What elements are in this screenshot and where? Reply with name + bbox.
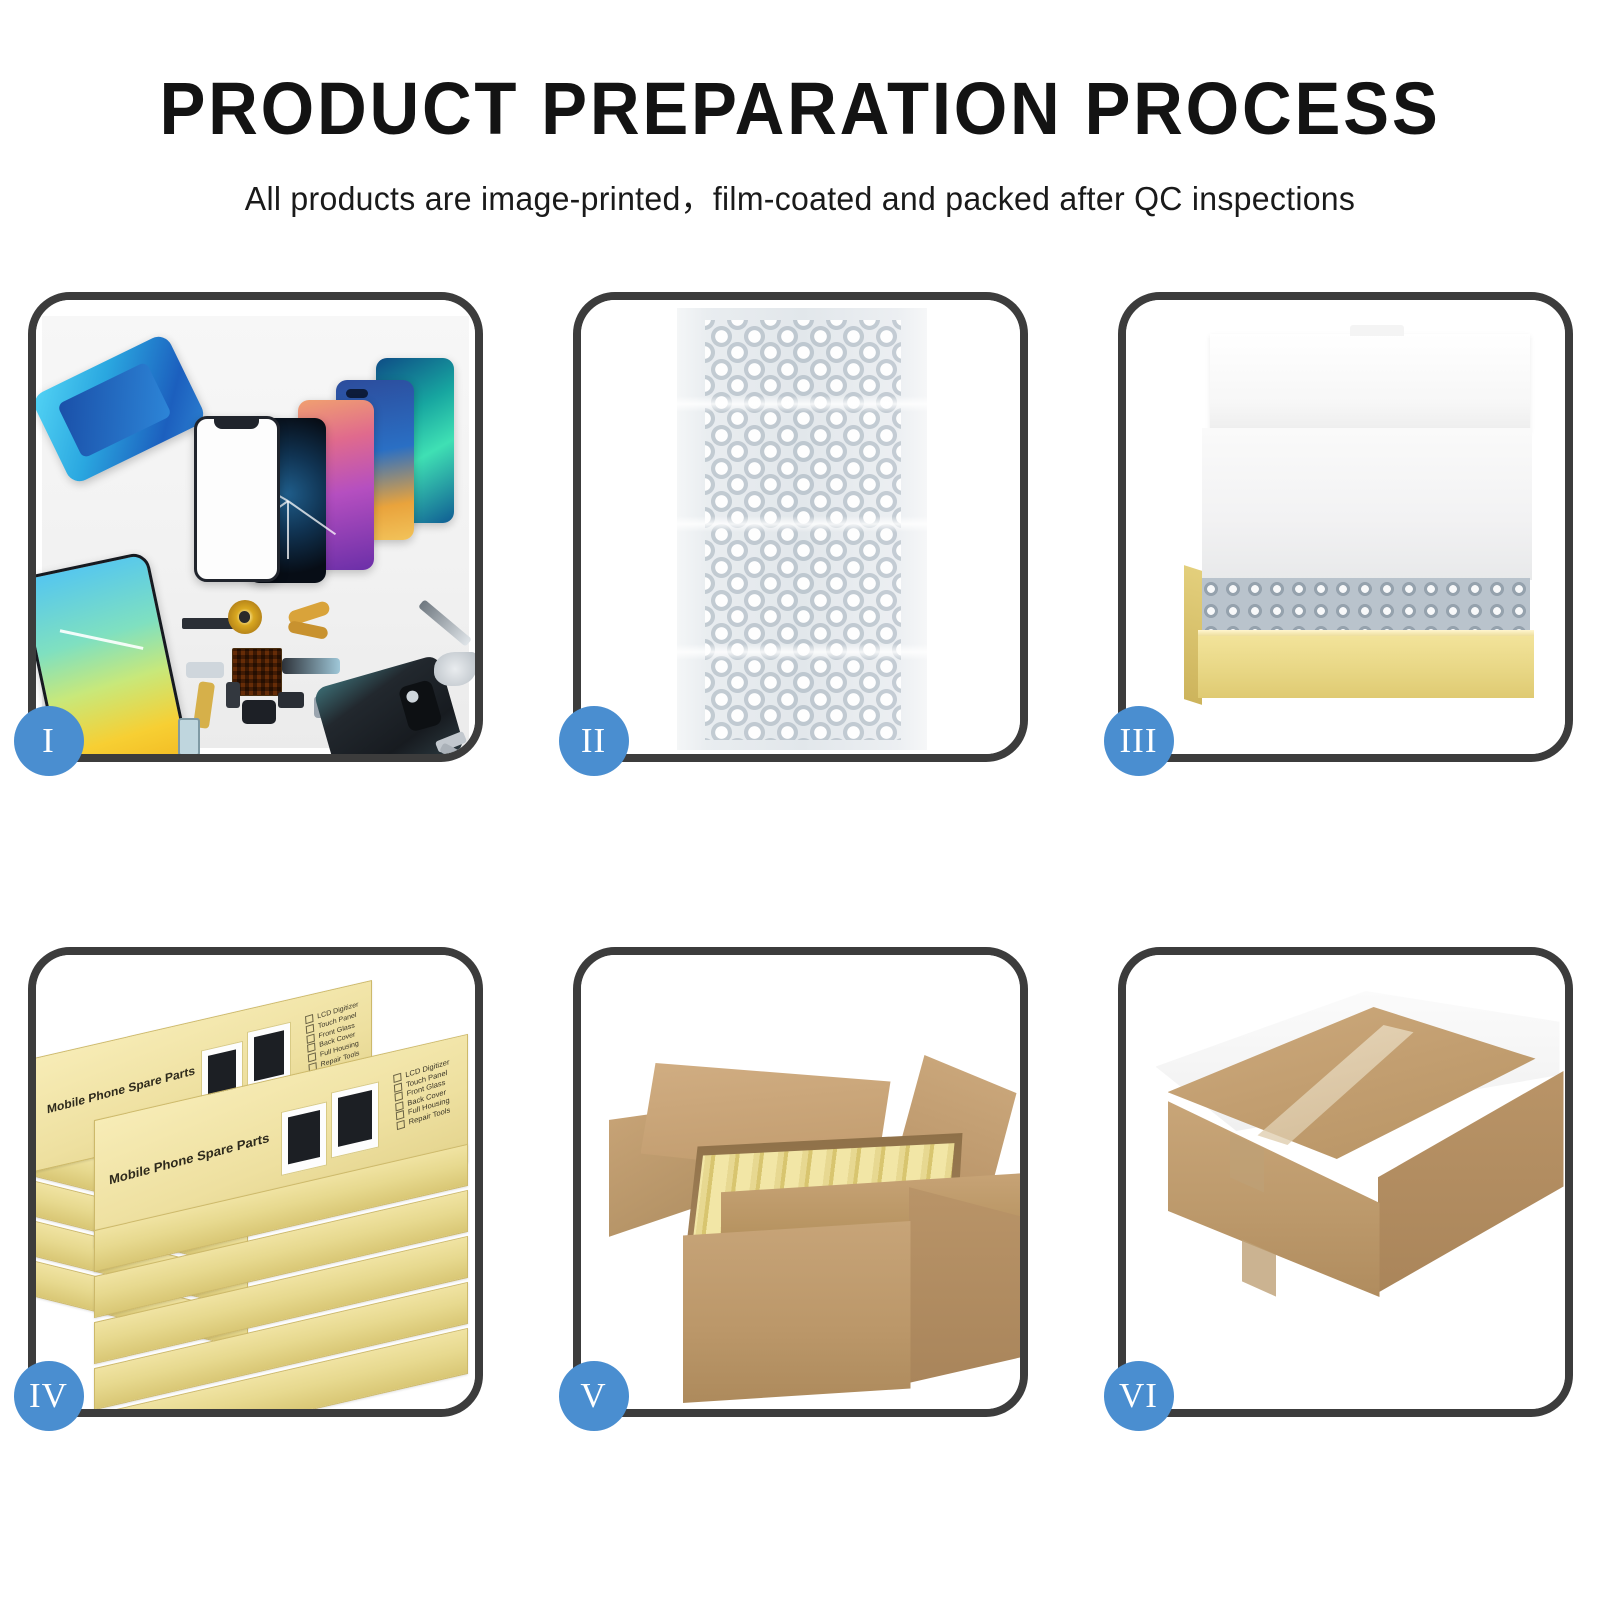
step-image-4: Mobile Phone Spare Parts LCD Digitizer T… <box>36 955 475 1409</box>
connector-bar-part <box>182 618 234 629</box>
screen-protector-glass <box>194 416 280 582</box>
step-card-2[interactable]: II <box>573 292 1028 762</box>
carton-front-panel <box>683 1221 911 1403</box>
flex-cable-part <box>282 658 340 674</box>
box-lid-flap <box>1210 334 1530 432</box>
wrap-highlight <box>677 644 927 660</box>
step-card-3[interactable]: III <box>1118 292 1573 762</box>
page-header: PRODUCT PREPARATION PROCESS All products… <box>0 0 1600 220</box>
process-row-top: I II III <box>0 292 1600 762</box>
step-image-6 <box>1126 955 1565 1409</box>
step-card-6[interactable]: VI <box>1118 947 1573 1417</box>
step-image-5 <box>581 955 1020 1409</box>
box-screen-image <box>331 1081 379 1158</box>
wrap-highlight <box>677 396 927 412</box>
step-image-3 <box>1126 300 1565 754</box>
step-badge-1: I <box>14 706 84 776</box>
step-card-5[interactable]: V <box>573 947 1028 1417</box>
step-badge-3: III <box>1104 706 1174 776</box>
foam-liner-sheet <box>1202 428 1532 580</box>
brush-tool <box>434 652 475 686</box>
box-front-panel <box>1198 636 1534 698</box>
wireless-charging-coil-part <box>228 600 262 634</box>
step-card-4[interactable]: Mobile Phone Spare Parts LCD Digitizer T… <box>28 947 483 1417</box>
step-badge-2: II <box>559 706 629 776</box>
step-card-1[interactable]: I <box>28 292 483 762</box>
step-badge-6: VI <box>1104 1361 1174 1431</box>
step-image-2 <box>581 300 1020 754</box>
capacitor-part <box>278 692 304 708</box>
flex-cable-part <box>186 662 224 678</box>
wrap-highlight <box>677 516 927 532</box>
carton-side-panel <box>909 1187 1020 1383</box>
camera-punch-hole-icon <box>346 389 368 398</box>
bubble-wrapped-item <box>1200 578 1530 638</box>
screen-shine <box>59 629 143 650</box>
step-image-1 <box>36 300 475 754</box>
process-row-bottom: Mobile Phone Spare Parts LCD Digitizer T… <box>0 947 1600 1417</box>
crack-line <box>287 501 289 559</box>
camera-lens-icon <box>397 679 442 733</box>
box-screen-image <box>281 1101 327 1176</box>
small-module-part <box>226 682 240 708</box>
step-badge-5: V <box>559 1361 629 1431</box>
retail-box-stack: Mobile Phone Spare Parts LCD Digitizer T… <box>36 955 475 1409</box>
sim-tray-part <box>178 718 200 754</box>
speaker-part <box>242 700 276 724</box>
process-step-grid: I II III <box>0 292 1600 1602</box>
step-badge-4: IV <box>14 1361 84 1431</box>
page-subtitle: All products are image-printed，film-coat… <box>24 172 1576 220</box>
page-title: PRODUCT PREPARATION PROCESS <box>56 72 1544 146</box>
